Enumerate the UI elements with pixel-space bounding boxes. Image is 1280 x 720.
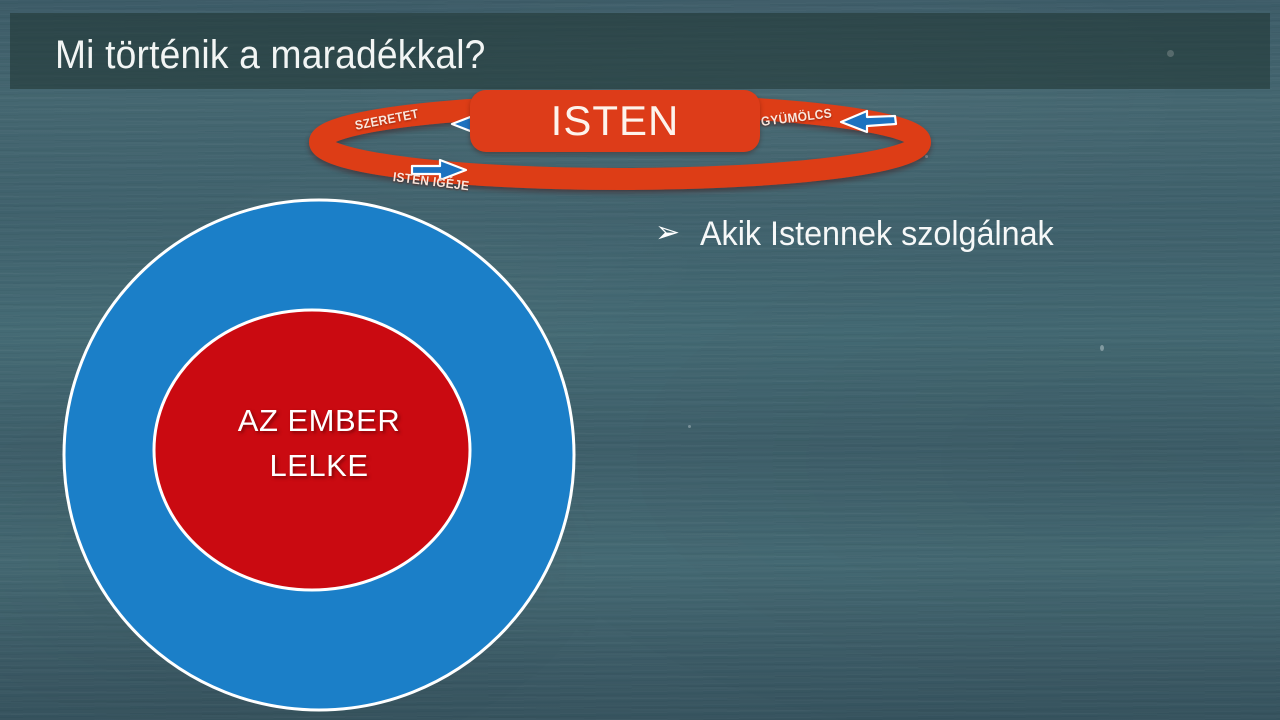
- isten-box: ISTEN: [470, 90, 760, 152]
- inner-circle: [154, 310, 470, 590]
- page-title: Mi történik a maradékkal?: [55, 31, 486, 79]
- isten-label: ISTEN: [470, 90, 760, 152]
- soul-circles-graphic: [36, 194, 602, 716]
- bullet-text: Akik Istennek szolgálnak: [700, 212, 1054, 256]
- arrowhead-bullet-icon: ➢: [655, 218, 680, 248]
- soul-diagram: AZ EMBER LELKE: [36, 194, 602, 716]
- bullet-list-item: ➢ Akik Istennek szolgálnak: [655, 212, 1072, 256]
- slide-canvas: Mi történik a maradékkal? SZ: [0, 0, 1280, 720]
